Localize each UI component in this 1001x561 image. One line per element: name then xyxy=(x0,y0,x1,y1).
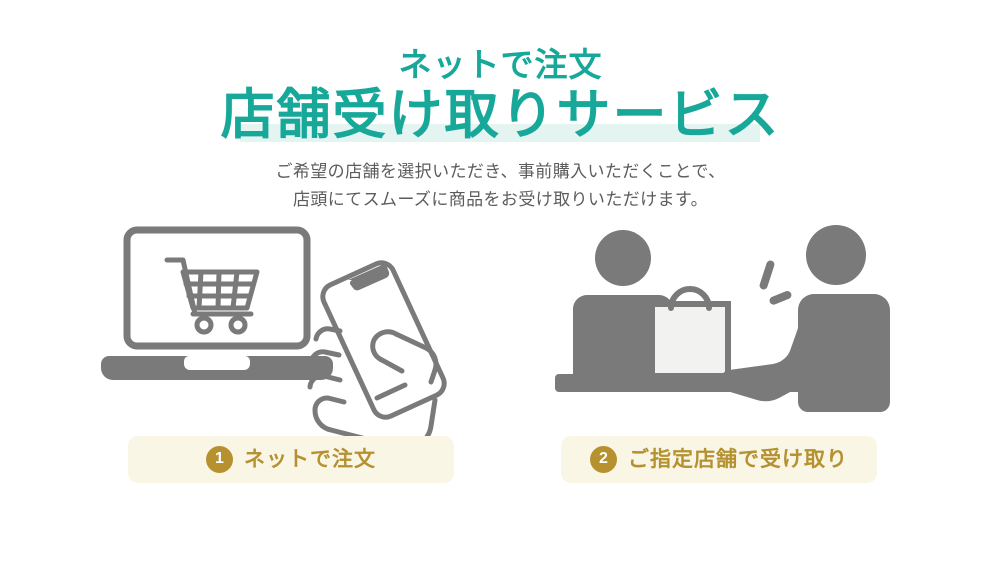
store-pickup-illustration xyxy=(555,222,900,422)
order-online-illustration xyxy=(105,222,475,422)
staff-figure-icon xyxy=(720,225,890,412)
step-2-label: ご指定店舗で受け取り xyxy=(628,449,848,470)
emphasis-lines-icon xyxy=(759,259,793,305)
step-1-label: ネットで注文 xyxy=(244,449,376,470)
hand-holding-smartphone-icon xyxy=(310,263,444,449)
shopping-bag-icon xyxy=(652,289,728,376)
subtitle-line-1: ご希望の店舗を選択いただき、事前購入いただくことで、 xyxy=(0,158,1001,186)
shopping-cart-icon xyxy=(167,260,257,332)
eyebrow-text: ネットで注文 xyxy=(0,48,1001,81)
subtitle-block: ご希望の店舗を選択いただき、事前購入いただくことで、 店頭にてスムーズに商品をお… xyxy=(0,158,1001,214)
step-1-online-order[interactable]: 1 ネットで注文 xyxy=(128,436,454,483)
main-title-block: 店舗受け取りサービス xyxy=(0,88,1001,150)
step-2-number-badge: 2 xyxy=(590,446,617,473)
step-1-number-badge: 1 xyxy=(206,446,233,473)
page-title: 店舗受け取りサービス xyxy=(0,88,1001,143)
subtitle-line-2: 店頭にてスムーズに商品をお受け取りいただけます。 xyxy=(0,186,1001,214)
step-2-store-pickup[interactable]: 2 ご指定店舗で受け取り xyxy=(561,436,877,483)
store-pickup-service-banner: ネットで注文 店舗受け取りサービス ご希望の店舗を選択いただき、事前購入いただく… xyxy=(0,0,1001,561)
